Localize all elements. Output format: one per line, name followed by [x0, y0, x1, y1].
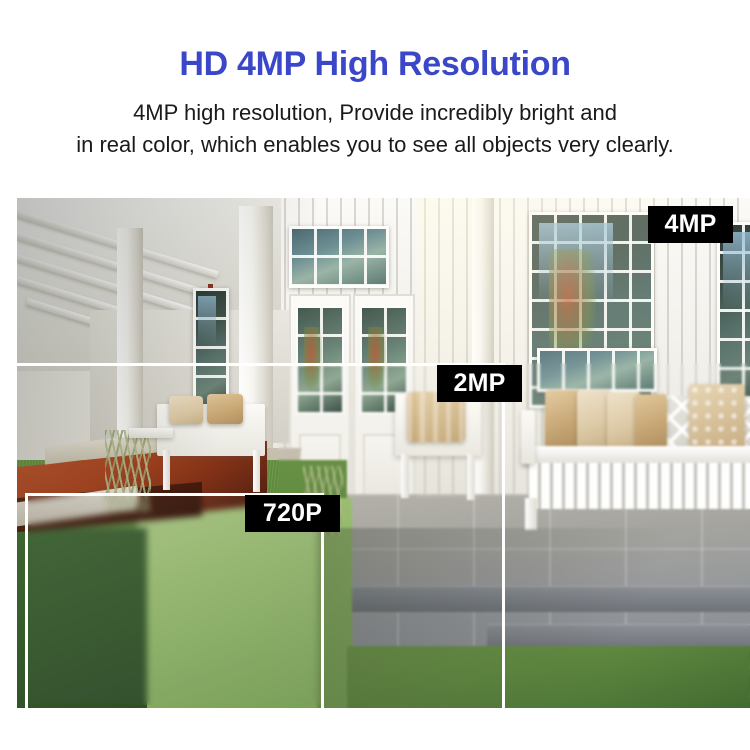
window-above-bench: [537, 348, 657, 392]
bench-leg: [253, 450, 260, 492]
transom-window-center: [289, 226, 389, 288]
foliage-reflection: [304, 327, 322, 392]
porch-scene: [17, 198, 750, 708]
chair-leg: [467, 454, 475, 500]
lawn-right-strip: [347, 646, 750, 708]
bench-leg: [163, 450, 170, 490]
header-block: HD 4MP High Resolution 4MP high resoluti…: [0, 0, 750, 160]
window-muntins: [292, 229, 386, 285]
window-left: [193, 288, 229, 408]
bench-armrest: [521, 410, 535, 464]
page-title: HD 4MP High Resolution: [0, 46, 750, 83]
bench-pillow-left-2: [207, 394, 243, 424]
subtitle-line-2: in real color, which enables you to see …: [0, 129, 750, 160]
bench-pillow-2: [577, 390, 611, 448]
bench-seat: [523, 446, 750, 463]
badge-2mp: 2MP: [437, 365, 522, 402]
window-reflection: [723, 232, 750, 309]
badge-4mp: 4MP: [648, 206, 733, 243]
chair-leg: [401, 454, 409, 498]
subtitle-line-1: 4MP high resolution, Provide incredibly …: [0, 97, 750, 128]
porch-side-table: [129, 428, 173, 438]
window-muntins: [540, 351, 654, 389]
bench-apron: [529, 463, 750, 509]
lawn-shadow-patch: [17, 528, 147, 708]
door-glass: [296, 306, 345, 414]
bench-pillow-4: [635, 394, 667, 448]
resolution-comparison-image: 4MP 2MP 720P: [17, 198, 750, 708]
bench-pillow-5: [689, 384, 745, 450]
paver-step-edge: [347, 586, 750, 612]
window-far-right: [717, 222, 750, 402]
ornamental-grass-left: [105, 430, 151, 512]
page-subtitle: 4MP high resolution, Provide incredibly …: [0, 97, 750, 159]
bench-leg: [525, 498, 537, 530]
badge-720p: 720P: [245, 495, 340, 532]
bench-pillow-left: [169, 396, 203, 424]
bench-pillow-1: [545, 390, 581, 448]
window-reflection: [198, 296, 217, 346]
foliage-reflection: [368, 327, 386, 392]
